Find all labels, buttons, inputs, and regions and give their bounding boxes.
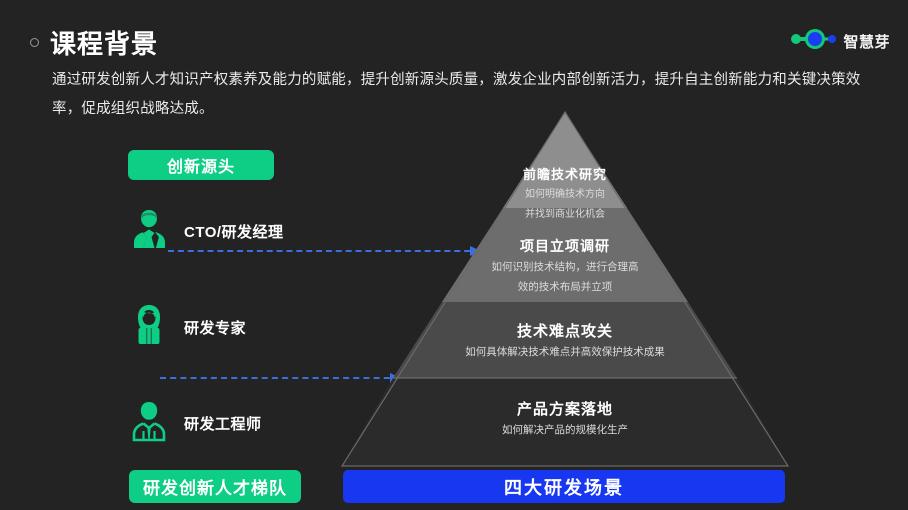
role-label: 研发工程师 [184, 413, 262, 434]
brand-name: 智慧芽 [843, 31, 890, 52]
businessman-suit-icon [128, 206, 170, 257]
badge-innovation-source: 创新源头 [128, 150, 274, 180]
circle-outline-icon [30, 38, 39, 47]
pyramid-tier-1-shape [442, 208, 688, 302]
slide-canvas: 课程背景 通过研发创新人才知识产权素养及能力的赋能，提升创新源头质量，激发企业内… [0, 0, 908, 510]
pyramid-tier-0-shape [503, 112, 627, 208]
badge-four-rd-scenes: 四大研发场景 [343, 470, 785, 503]
pyramid-tier-3-shape [342, 378, 788, 466]
badge-talent-echelon: 研发创新人才梯队 [129, 470, 301, 503]
role-label: 研发专家 [184, 317, 246, 338]
pyramid-diagram: 前瞻技术研究 如何明确技术方向 并找到商业化机会 项目立项调研 如何识别技术结构… [340, 108, 790, 470]
pyramid-tier-2-shape [393, 302, 737, 378]
pyramid-shapes [340, 108, 790, 470]
page-title: 课程背景 [50, 24, 158, 61]
role-row-expert: 研发专家 [128, 302, 246, 353]
woman-long-hair-icon [128, 302, 170, 353]
molecule-logo-icon [790, 28, 838, 55]
role-label: CTO/研发经理 [184, 221, 284, 242]
engineer-shirt-tie-icon [128, 398, 170, 449]
brand-logo: 智慧芽 [790, 28, 890, 55]
role-row-engineer: 研发工程师 [128, 398, 262, 449]
